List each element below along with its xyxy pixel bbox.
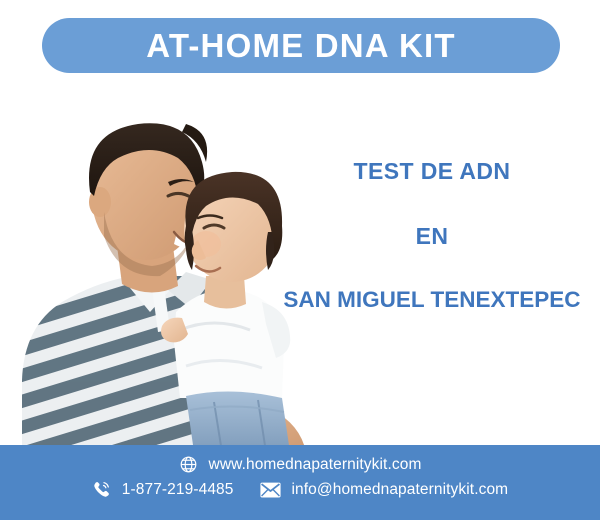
globe-icon xyxy=(179,455,198,474)
footer-website-label: www.homednapaternitykit.com xyxy=(209,456,422,474)
footer-phone[interactable]: 1-877-219-4485 xyxy=(92,480,234,499)
footer-phone-label: 1-877-219-4485 xyxy=(122,481,234,499)
envelope-icon xyxy=(260,482,281,498)
footer-row-website: www.homednapaternitykit.com xyxy=(0,455,600,474)
footer-email[interactable]: info@homednapaternitykit.com xyxy=(260,481,509,499)
headline-line-1: TEST DE ADN xyxy=(264,160,600,183)
footer-contact-bar: www.homednapaternitykit.com 1-877-219-44… xyxy=(0,445,600,520)
phone-icon xyxy=(92,480,111,499)
footer-row-phone-email: 1-877-219-4485 info@homednapaternitykit.… xyxy=(0,480,600,499)
headline-line-2: EN xyxy=(264,225,600,248)
footer-email-label: info@homednapaternitykit.com xyxy=(292,481,509,499)
poster-canvas: AT-HOME DNA KIT xyxy=(0,0,600,520)
footer-website[interactable]: www.homednapaternitykit.com xyxy=(179,455,422,474)
headline-block: TEST DE ADN EN SAN MIGUEL TENEXTEPEC xyxy=(264,160,600,312)
header-banner: AT-HOME DNA KIT xyxy=(42,18,560,73)
headline-line-3: SAN MIGUEL TENEXTEPEC xyxy=(264,289,600,312)
header-title: AT-HOME DNA KIT xyxy=(146,29,455,62)
